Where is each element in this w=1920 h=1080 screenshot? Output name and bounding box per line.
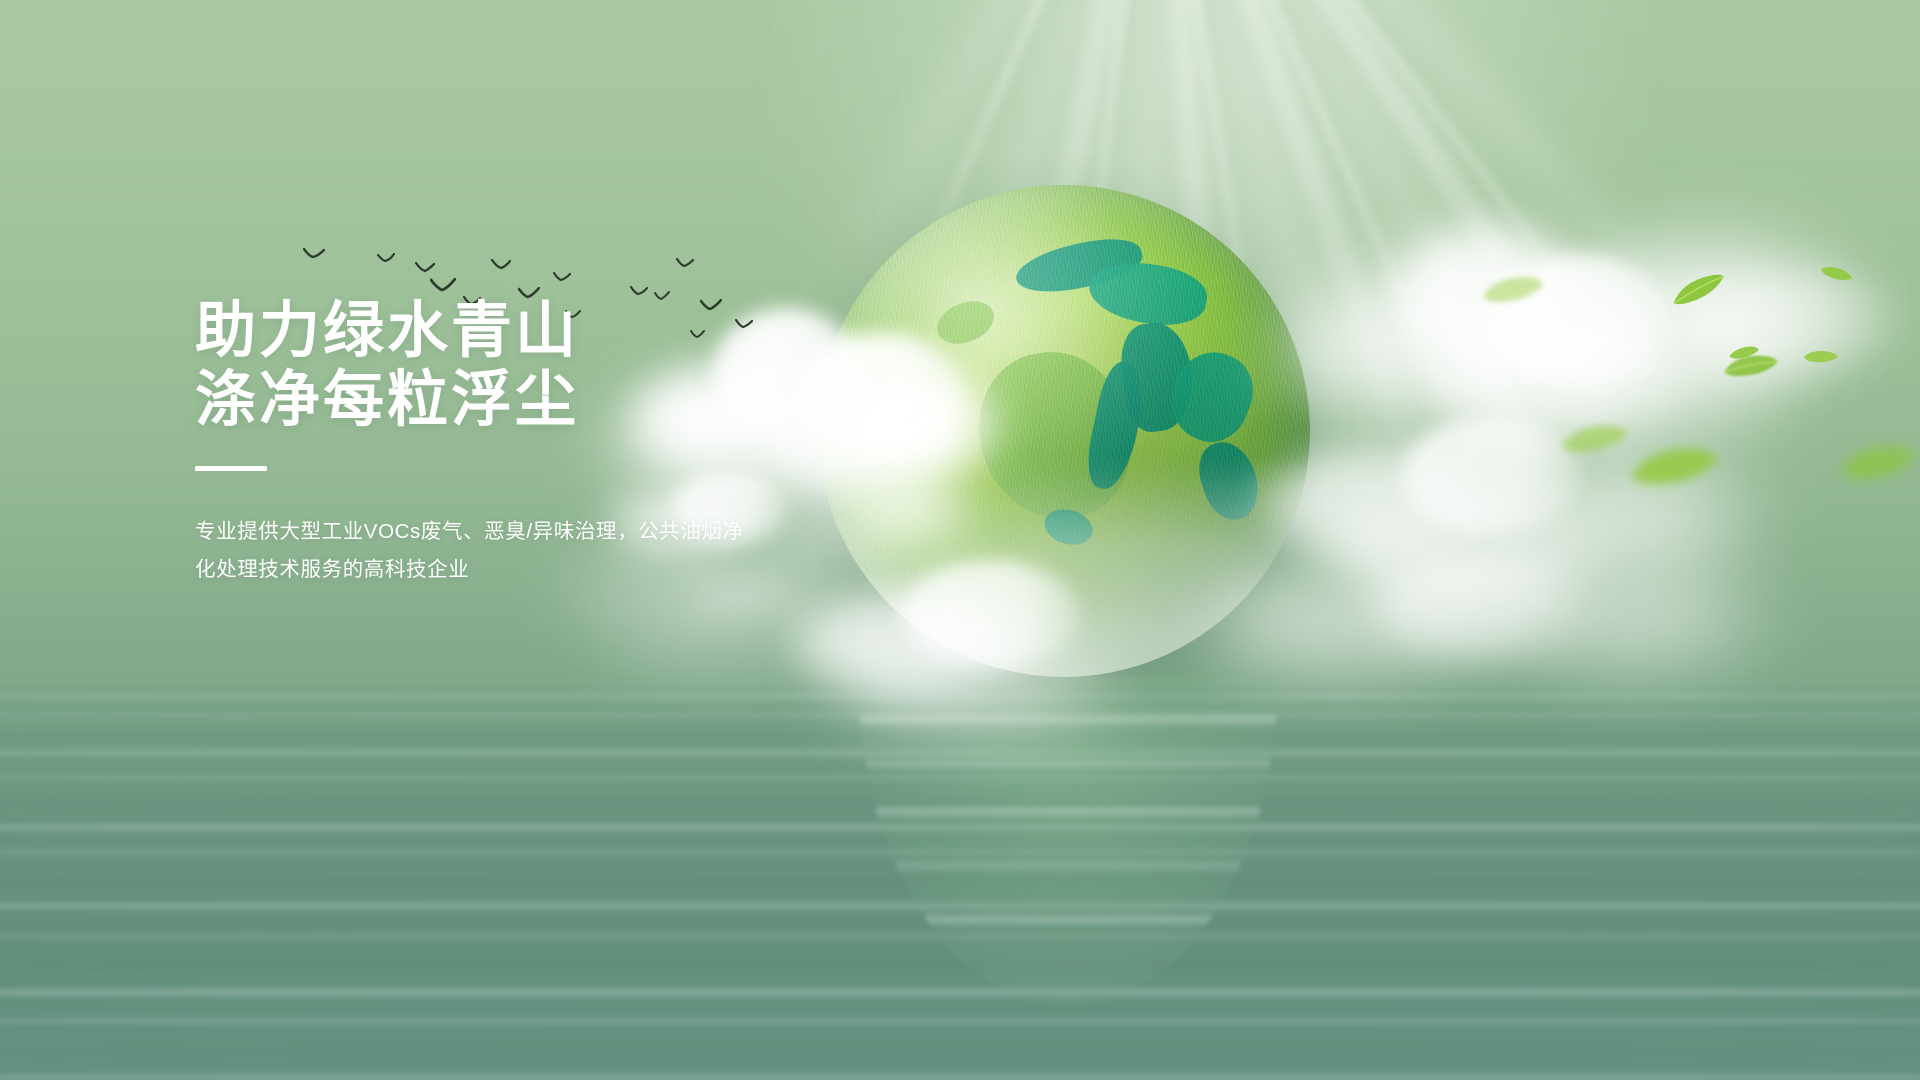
leaf-icon (1560, 420, 1630, 454)
leaf-icon (1722, 350, 1780, 378)
bird-icon (553, 272, 571, 283)
hero-subtitle: 专业提供大型工业VOCs废气、恶臭/异味治理，公共油烟净 化处理技术服务的高科技… (195, 513, 915, 590)
headline-line-1: 助力绿水青山 (195, 296, 915, 365)
title-divider (195, 466, 267, 471)
leaf-icon (1628, 441, 1720, 487)
bird-icon (303, 248, 325, 261)
bird-icon (415, 262, 435, 274)
subtitle-line-2: 化处理技术服务的高科技企业 (195, 551, 915, 590)
headline-line-2: 涤净每粒浮尘 (195, 365, 915, 434)
leaf-icon (1481, 272, 1545, 304)
leaf-icon (1665, 266, 1730, 309)
bird-icon (377, 253, 395, 265)
bird-icon (491, 259, 511, 271)
hero-copy: 助力绿水青山 涤净每粒浮尘 专业提供大型工业VOCs废气、恶臭/异味治理，公共油… (195, 296, 915, 590)
bird-icon (430, 278, 456, 293)
leaf-icon (1818, 258, 1856, 288)
subtitle-line-1: 专业提供大型工业VOCs废气、恶臭/异味治理，公共油烟净 (195, 513, 915, 552)
bird-icon (676, 258, 694, 269)
leaf-icon (1838, 440, 1918, 482)
hero-banner: 助力绿水青山 涤净每粒浮尘 专业提供大型工业VOCs废气、恶臭/异味治理，公共油… (0, 0, 1920, 1080)
leaf-icon (1802, 346, 1840, 367)
